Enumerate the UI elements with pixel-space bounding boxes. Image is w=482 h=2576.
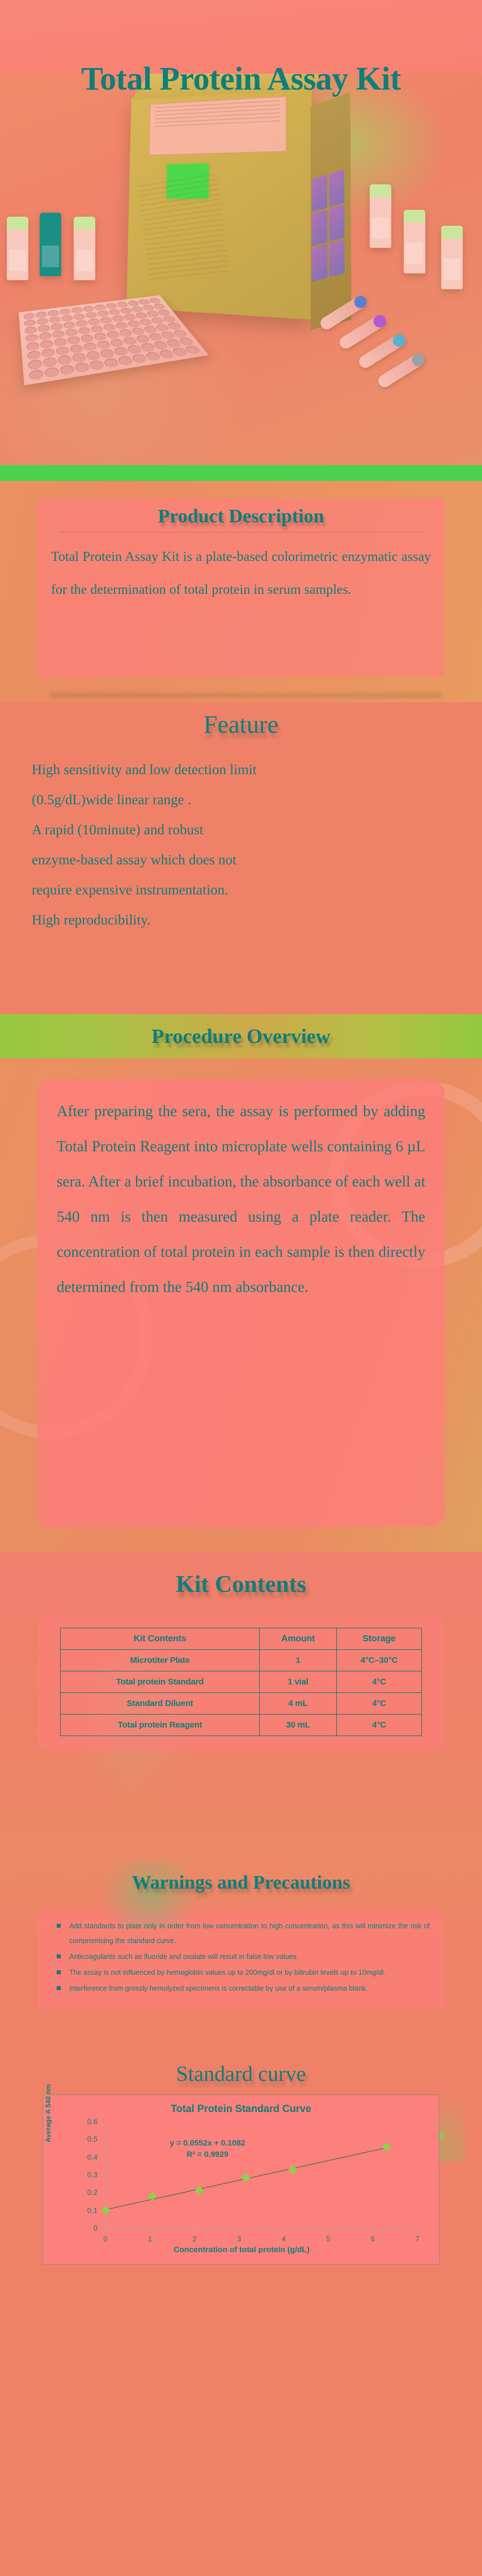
warnings-card: Add standards to plate only in order fro… [37,1908,445,2009]
infographic-page: Total Protein Assay Kit Product Descript… [0,0,482,2576]
cell-amount: 4 mL [260,1693,337,1714]
procedure-overview-heading: Procedure Overview [151,1024,331,1048]
procedure-overview-card: After preparing the sera, the assay is p… [37,1079,445,1527]
chart-x-tick-label: 4 [278,2235,289,2243]
list-item: require expensive instrumentation. [32,875,450,905]
table-header-row: Kit Contents Amount Storage [61,1628,422,1650]
chart-x-tick-label: 2 [189,2235,200,2243]
chart-x-tick-label: 3 [234,2235,245,2243]
list-item: enzyme-based assay which does not [32,845,450,875]
heading-underline [59,532,423,533]
chart-y-tick-label: 0.2 [78,2188,98,2197]
chart-y-tick-label: 0.1 [78,2206,98,2215]
list-item: A rapid (10minute) and robust [32,815,450,845]
reagent-vial-icon [7,217,28,280]
feature-heading: Feature [0,710,482,739]
standard-curve-chart: Total Protein Standard Curve y = 0.0552x… [43,2094,439,2265]
column-header-kit-contents: Kit Contents [61,1628,260,1650]
chart-x-tick-label: 7 [412,2235,423,2243]
list-item: High reproducibility. [32,905,450,935]
reagent-vial-icon [404,210,425,273]
reagent-vial-icon [74,217,95,280]
cell-storage: 4°C [337,1714,422,1736]
product-description-section: Product Description Total Protein Assay … [0,481,482,702]
table-row: Microtiter Plate 1 4°C–30°C [61,1650,422,1671]
cell-item: Microtiter Plate [61,1650,260,1671]
hero-banner: Total Protein Assay Kit [0,0,482,465]
chart-y-tick-label: 0.6 [78,2117,98,2126]
list-item: High sensitivity and low detection limit [32,755,450,785]
cell-storage: 4°C [337,1693,422,1714]
standard-curve-section: Standard curve Total Protein Standard Cu… [0,2059,482,2293]
warnings-list: Add standards to plate only in order fro… [50,1919,430,1996]
kit-box-icon [126,86,312,319]
chart-x-tick-label: 0 [100,2235,111,2243]
kit-box-label [149,96,287,155]
cell-item: Total protein Standard [61,1671,260,1693]
table-row: Standard Diluent 4 mL 4°C [61,1693,422,1714]
chart-y-tick-label: 0.4 [78,2153,98,2161]
column-header-storage: Storage [337,1628,422,1650]
product-description-body: Total Protein Assay Kit is a plate-based… [49,540,433,606]
table-row: Total protein Reagent 30 mL 4°C [61,1714,422,1736]
column-header-amount: Amount [260,1628,337,1650]
chart-x-tick-label: 1 [145,2235,156,2243]
kit-contents-section: Kit Contents Kit Contents Amount Storage… [0,1552,482,1861]
cell-amount: 30 mL [260,1714,337,1736]
cell-storage: 4°C [337,1671,422,1693]
reagent-vial-icon [370,184,391,248]
procedure-overview-body: After preparing the sera, the assay is p… [57,1093,425,1304]
kit-contents-table-card: Kit Contents Amount Storage Microtiter P… [37,1615,445,1751]
cell-item: Total protein Reagent [61,1714,260,1736]
cell-item: Standard Diluent [61,1693,260,1714]
kit-contents-heading: Kit Contents [0,1571,482,1598]
warnings-section: Warnings and Precautions Add standards t… [0,1861,482,2059]
kit-box-thumbnail-grid [312,169,345,281]
list-item: (0.5g/dL)wide linear range . [32,785,450,815]
reagent-vial-icon [441,226,463,289]
list-item: Add standards to plate only in order fro… [50,1919,430,1948]
reagent-vial-icon [40,213,61,276]
sample-tubes-icon [312,301,459,403]
table-row: Total protein Standard 1 vial 4°C [61,1671,422,1693]
procedure-overview-band: Procedure Overview [0,1014,482,1058]
kit-contents-table: Kit Contents Amount Storage Microtiter P… [60,1628,422,1736]
chart-y-tick-label: 0.5 [78,2135,98,2143]
chart-x-tick-label: 5 [323,2235,334,2243]
page-title: Total Protein Assay Kit [0,60,482,98]
chart-x-tick-label: 6 [367,2235,378,2243]
product-description-heading: Product Description [49,506,433,531]
chart-y-tick-label: 0 [78,2224,98,2232]
product-description-card: Product Description Total Protein Assay … [37,498,445,677]
cell-amount: 1 vial [260,1671,337,1693]
list-item: The assay is not influenced by hemoglobi… [50,1965,430,1980]
feature-list: High sensitivity and low detection limit… [0,755,482,935]
feature-section: Feature High sensitivity and low detecti… [0,702,482,1014]
card-drop-shadow [50,693,441,698]
product-photo [0,74,482,465]
kit-box-blurb-text [138,174,230,284]
procedure-overview-section: After preparing the sera, the assay is p… [0,1058,482,1552]
warnings-heading: Warnings and Precautions [0,1872,482,1894]
cell-amount: 1 [260,1650,337,1671]
green-divider [0,465,482,481]
cell-storage: 4°C–30°C [337,1650,422,1671]
chart-y-tick-label: 0.3 [78,2170,98,2179]
list-item: Interference from grossly hemolyzed spec… [50,1981,430,1996]
standard-curve-heading: Standard curve [0,2062,482,2087]
list-item: Anticoagulants such as fluoride and oxal… [50,1949,430,1964]
